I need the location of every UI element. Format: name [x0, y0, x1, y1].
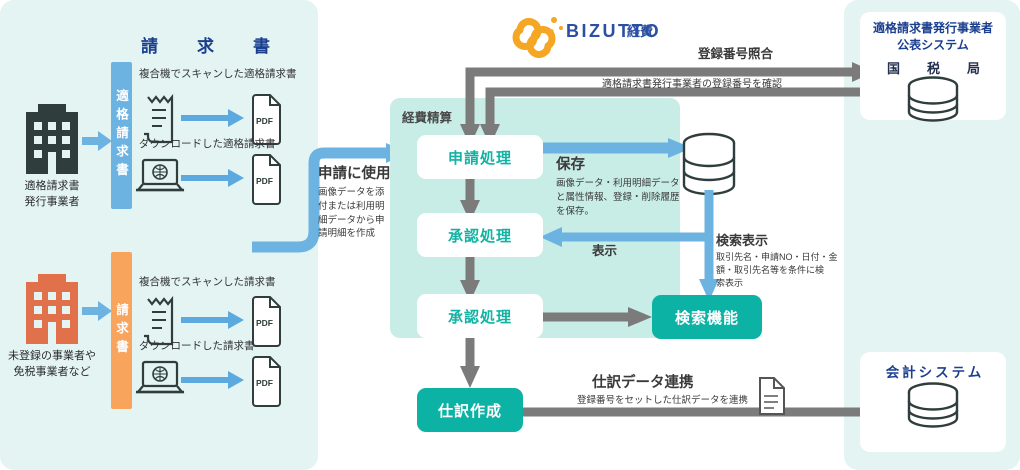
- database-cylinder-icon: [909, 78, 957, 121]
- right-panel-svg: [0, 0, 1020, 470]
- database-cylinder-icon: [909, 384, 957, 427]
- diagram-root: 請 求 書 適格請求書: [0, 0, 1020, 470]
